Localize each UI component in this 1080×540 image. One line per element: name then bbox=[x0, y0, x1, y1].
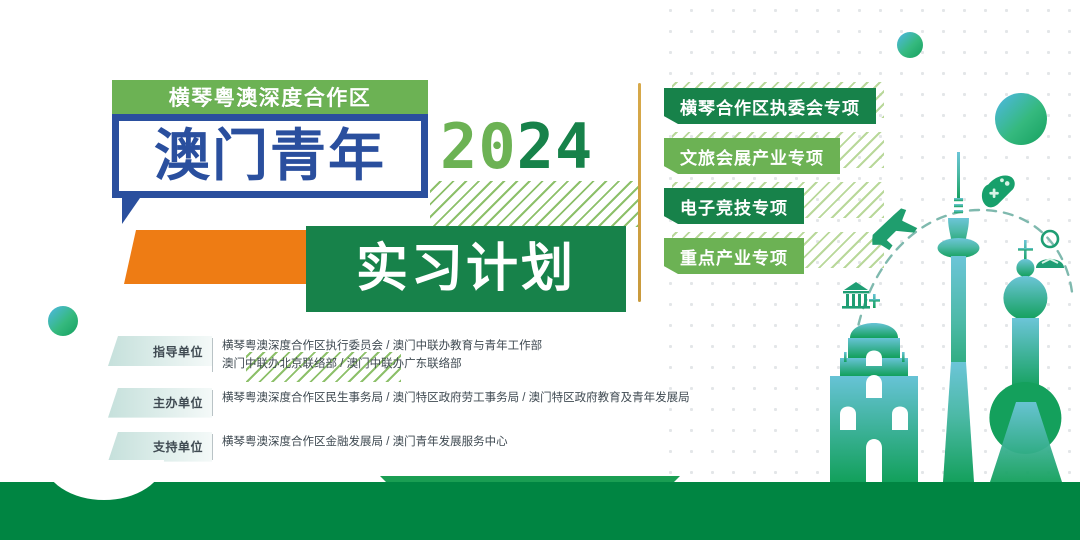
credit-line: 横琴粤澳深度合作区民生事务局 / 澳门特区政府劳工事务局 / 澳门特区政府教育及… bbox=[222, 390, 690, 408]
year-second-half: 24 bbox=[517, 110, 594, 183]
category-tag-label: 电子竞技专项 bbox=[680, 194, 788, 219]
credit-row: 指导单位 横琴粤澳深度合作区执行委员会 / 澳门中联办教育与青年工作部 澳门中联… bbox=[108, 336, 688, 374]
promotional-banner: 横琴粤澳深度合作区 澳门青年 2024 实习计划 横琴合作区执委会专项 bbox=[0, 0, 1080, 540]
credit-row: 主办单位 横琴粤澳深度合作区民生事务局 / 澳门特区政府劳工事务局 / 澳门特区… bbox=[108, 388, 688, 418]
decorative-circle-left bbox=[48, 306, 78, 336]
tag-wrapper: 文旅会展产业专项 bbox=[664, 138, 876, 174]
credit-body: 横琴粤澳深度合作区执行委员会 / 澳门中联办教育与青年工作部 澳门中联办北京联络… bbox=[222, 336, 542, 374]
decorative-circle-large bbox=[995, 93, 1047, 145]
gamepad-icon bbox=[982, 176, 1015, 208]
credit-body: 横琴粤澳深度合作区金融发展局 / 澳门青年发展服务中心 bbox=[222, 432, 508, 452]
tag-wrapper: 重点产业专项 bbox=[664, 238, 876, 274]
category-tag-label: 横琴合作区执委会专项 bbox=[680, 94, 860, 119]
year-first-half: 20 bbox=[440, 110, 517, 183]
ruins-of-st-pauls bbox=[830, 294, 918, 482]
credit-separator bbox=[212, 434, 213, 460]
ribbon-header: 横琴粤澳深度合作区 bbox=[112, 80, 428, 114]
credit-separator bbox=[212, 390, 213, 416]
main-title-text: 澳门青年 bbox=[154, 128, 386, 184]
credit-separator bbox=[212, 338, 213, 372]
credit-label: 主办单位 bbox=[153, 394, 203, 411]
category-tag[interactable]: 电子竞技专项 bbox=[664, 188, 804, 224]
credit-label: 指导单位 bbox=[153, 343, 203, 360]
category-tag[interactable]: 文旅会展产业专项 bbox=[664, 138, 840, 174]
bottom-green-band bbox=[0, 482, 1080, 540]
grand-lisboa-tower bbox=[989, 240, 1062, 482]
year-display: 2024 bbox=[440, 116, 593, 178]
credit-body: 横琴粤澳深度合作区民生事务局 / 澳门特区政府劳工事务局 / 澳门特区政府教育及… bbox=[222, 388, 690, 408]
program-title-block: 实习计划 bbox=[306, 226, 626, 312]
credit-label-chip: 主办单位 bbox=[108, 388, 212, 418]
main-title-box: 澳门青年 bbox=[112, 114, 428, 198]
credit-line: 澳门中联办北京联络部 / 澳门中联办广东联络部 bbox=[222, 356, 542, 374]
vertical-divider bbox=[638, 83, 641, 302]
tag-wrapper: 电子竞技专项 bbox=[664, 188, 876, 224]
credit-label-chip: 支持单位 bbox=[108, 432, 212, 462]
category-tag-list: 横琴合作区执委会专项 文旅会展产业专项 电子竞技专项 重点产业专项 bbox=[664, 88, 876, 288]
credit-line: 横琴粤澳深度合作区金融发展局 / 澳门青年发展服务中心 bbox=[222, 434, 508, 452]
category-tag[interactable]: 重点产业专项 bbox=[664, 238, 804, 274]
program-title-text: 实习计划 bbox=[356, 243, 576, 295]
graduate-person-icon bbox=[1036, 231, 1064, 268]
ribbon-label: 横琴粤澳深度合作区 bbox=[169, 82, 372, 112]
credits-section: 指导单位 横琴粤澳深度合作区执行委员会 / 澳门中联办教育与青年工作部 澳门中联… bbox=[108, 336, 688, 476]
credit-row: 支持单位 横琴粤澳深度合作区金融发展局 / 澳门青年发展服务中心 bbox=[108, 432, 688, 462]
category-tag-label: 文旅会展产业专项 bbox=[680, 144, 824, 169]
decorative-circle-small bbox=[897, 32, 923, 58]
category-tag[interactable]: 横琴合作区执委会专项 bbox=[664, 88, 876, 124]
tag-wrapper: 横琴合作区执委会专项 bbox=[664, 88, 876, 124]
title-lockup: 横琴粤澳深度合作区 澳门青年 2024 实习计划 bbox=[108, 80, 638, 310]
speech-bubble-tail bbox=[122, 198, 140, 224]
credit-label: 支持单位 bbox=[153, 438, 203, 455]
dashed-arc bbox=[852, 210, 1072, 392]
category-tag-label: 重点产业专项 bbox=[680, 244, 788, 269]
credit-line: 横琴粤澳深度合作区执行委员会 / 澳门中联办教育与青年工作部 bbox=[222, 338, 542, 356]
macau-tower bbox=[938, 152, 980, 482]
hatch-accent-year bbox=[430, 181, 638, 227]
credit-label-chip: 指导单位 bbox=[108, 336, 212, 366]
